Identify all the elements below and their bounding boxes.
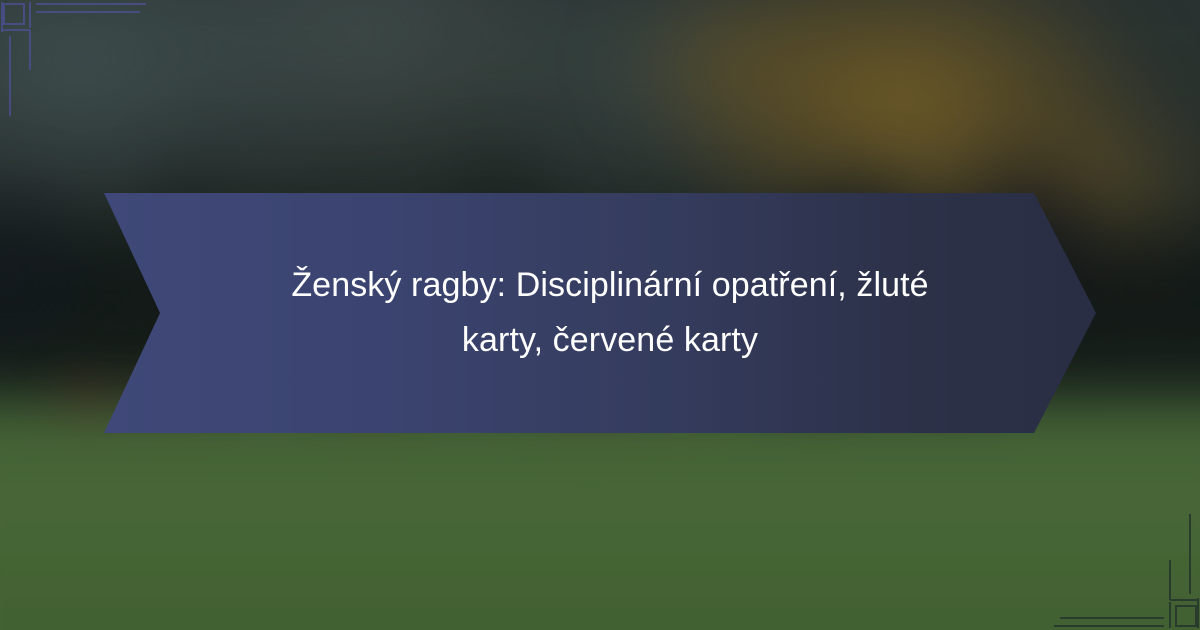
share-card: Ženský ragby: Disciplinární opatření, žl… (0, 0, 1200, 630)
corner-ornament-bottom-right (1048, 510, 1200, 630)
corner-ornament-top-left (0, 0, 152, 120)
page-title: Ženský ragby: Disciplinární opatření, žl… (190, 258, 1010, 368)
title-banner: Ženský ragby: Disciplinární opatření, žl… (104, 193, 1096, 433)
corner-frame-icon (0, 0, 152, 120)
corner-frame-icon (1048, 510, 1200, 630)
